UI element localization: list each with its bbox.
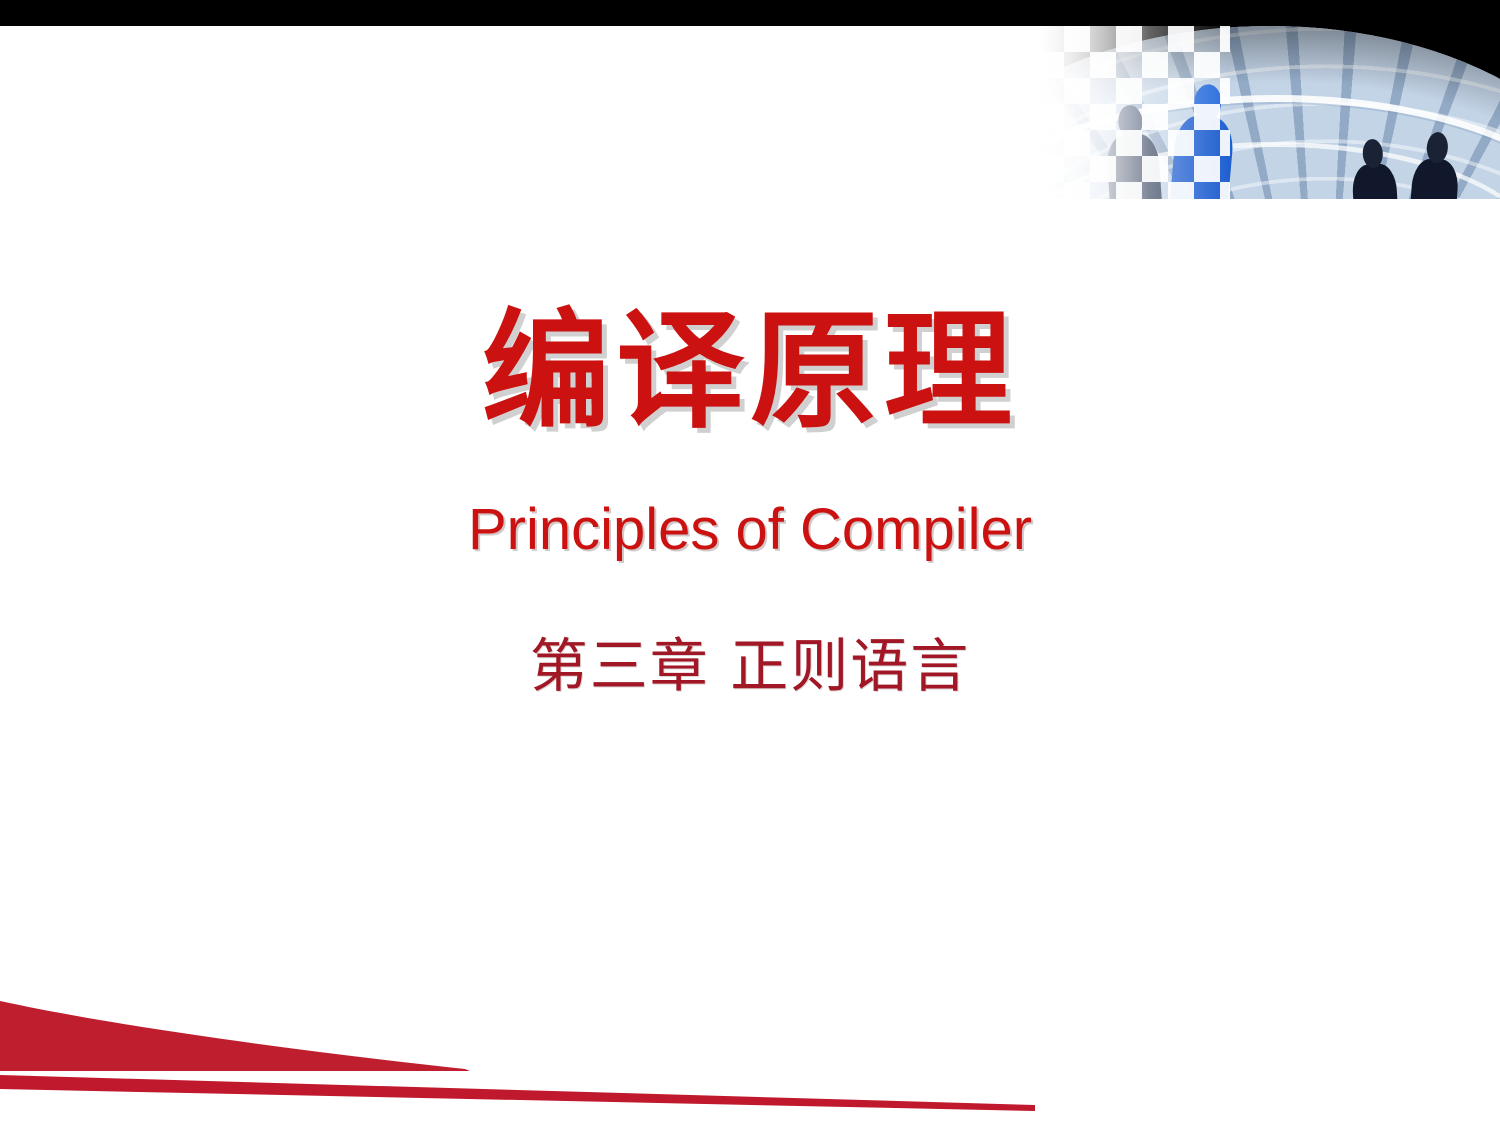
footer-swoosh-lower <box>0 1075 1035 1111</box>
header-photo-art <box>960 0 1500 205</box>
chapter-title: 第三章 正则语言 <box>0 637 1500 695</box>
footer-swoosh-art <box>0 965 1500 1125</box>
slide-canvas: 编译原理 Principles of Compiler 第三章 正则语言 <box>0 0 1500 1125</box>
top-black-bar <box>0 0 1500 26</box>
page-title: 编译原理 <box>0 300 1500 443</box>
mosaic-white-fade <box>960 0 1150 205</box>
header-bottom-cut <box>960 199 1500 239</box>
page-subtitle: Principles of Compiler <box>0 501 1500 559</box>
title-block: 编译原理 Principles of Compiler 第三章 正则语言 <box>0 300 1500 695</box>
footer-swoosh-upper <box>0 1001 470 1071</box>
